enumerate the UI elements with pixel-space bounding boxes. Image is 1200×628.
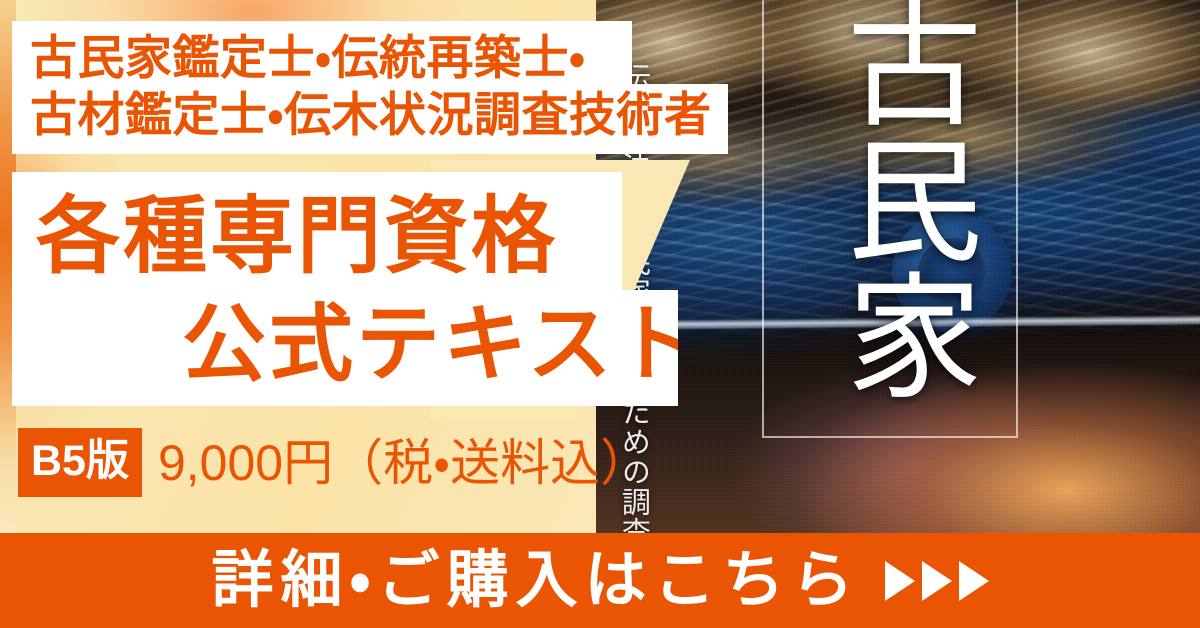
cta-label: 詳細・ご購入はこちら [211, 550, 860, 612]
book-cover-photo: 古民家 伝統構法 古民家活用のための調査と再生の [596, 0, 1200, 533]
promo-banner: 古民家 伝統構法 古民家活用のための調査と再生の 古民家鑑定士・伝統再築士・ 古… [0, 0, 1200, 628]
price-amount: 9,000円（税・送料込） [158, 438, 650, 488]
heading-line-2: 公式テキスト [182, 302, 701, 386]
certifications-line-1: 古民家鑑定士・伝統再築士・ [30, 34, 585, 81]
heading-line-1: 各種専門資格 [36, 194, 558, 278]
book-cover-title: 古民家 [792, 0, 982, 402]
chevron-right-icon [922, 561, 952, 601]
chevron-right-icon [959, 561, 989, 601]
price-row: B5版 9,000円（税・送料込） [18, 428, 650, 497]
certifications-line-2: 古材鑑定士・伝木状況調査技術者 [30, 91, 711, 138]
chevron-right-icon [885, 561, 915, 601]
certifications-card: 古民家鑑定士・伝統再築士・ 古材鑑定士・伝木状況調査技術者 [12, 21, 728, 154]
cta-arrow-group [885, 561, 989, 601]
format-badge: B5版 [18, 428, 142, 497]
heading-card: 各種専門資格 公式テキスト [12, 172, 678, 406]
cta-bar[interactable]: 詳細・ご購入はこちら [0, 533, 1200, 628]
